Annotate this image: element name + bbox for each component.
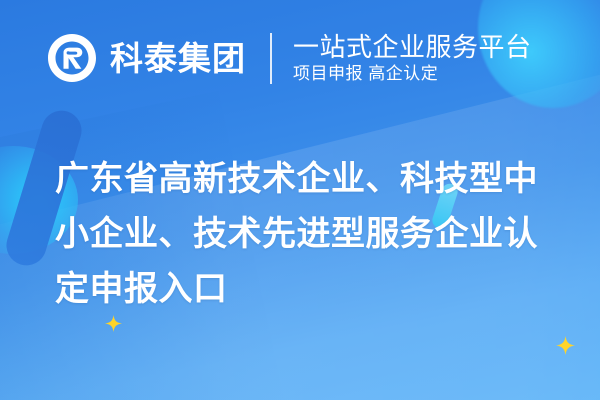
- brand-name: 科泰集团: [110, 42, 246, 75]
- promo-banner: 科泰集团 一站式企业服务平台 项目申报 高企认定 广东省高新技术企业、科技型中小…: [0, 0, 600, 400]
- sparkle-star-left-icon: [105, 315, 122, 332]
- banner-header: 科泰集团 一站式企业服务平台 项目申报 高企认定: [0, 0, 600, 116]
- tagline-sub: 项目申报 高企认定: [293, 65, 532, 82]
- brand-lockup: 科泰集团: [46, 32, 246, 84]
- page-title: 广东省高新技术企业、科技型中小企业、技术先进型服务企业认定申报入口: [55, 152, 555, 317]
- header-tagline: 一站式企业服务平台 项目申报 高企认定: [293, 34, 532, 82]
- headline-block: 广东省高新技术企业、科技型中小企业、技术先进型服务企业认定申报入口: [55, 152, 555, 317]
- header-divider: [270, 33, 272, 84]
- tagline-main: 一站式企业服务平台: [293, 34, 532, 60]
- ketai-circle-monogram-icon: [46, 32, 98, 84]
- sparkle-star-right-icon: [556, 336, 575, 355]
